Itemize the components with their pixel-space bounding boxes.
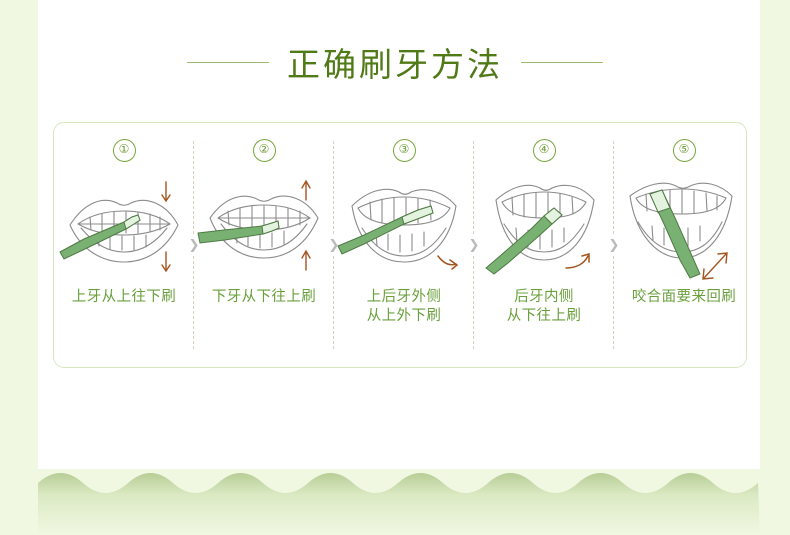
step-1-figure xyxy=(54,170,194,282)
bottom-wave-band xyxy=(38,463,760,535)
arrow-down-bottom xyxy=(162,252,170,271)
step-4-figure xyxy=(474,170,614,282)
steps-card: ① xyxy=(53,122,747,368)
step-1-number: ① xyxy=(113,139,136,162)
curved-arrow-up xyxy=(566,254,589,268)
step-3: ❯ ③ xyxy=(334,123,474,367)
step-2: ❯ ② xyxy=(194,123,334,367)
step-2-caption: 下牙从下往上刷 xyxy=(212,288,316,307)
step-4-number: ④ xyxy=(533,139,556,162)
toothbrush xyxy=(650,190,700,278)
step-4-caption: 后牙内侧 从下往上刷 xyxy=(507,288,582,326)
title-rule-right xyxy=(521,62,603,63)
title-rule-left xyxy=(187,62,269,63)
toothbrush xyxy=(198,221,279,243)
step-3-caption: 上后牙外侧 从上外下刷 xyxy=(367,288,442,326)
arrow-up-top xyxy=(302,181,310,200)
arrow-down-top xyxy=(162,182,170,201)
step-2-figure xyxy=(194,170,334,282)
step-5-number: ⑤ xyxy=(673,139,696,162)
step-3-figure xyxy=(334,170,474,282)
arrow-up-bottom xyxy=(302,251,310,270)
step-3-number: ③ xyxy=(393,139,416,162)
step-1: ① xyxy=(54,123,194,367)
title-row: 正确刷牙方法 xyxy=(0,38,790,86)
step-2-number: ② xyxy=(253,139,276,162)
toothbrush xyxy=(338,206,433,254)
step-5: ❯ ⑤ xyxy=(614,123,754,367)
step-1-caption: 上牙从上往下刷 xyxy=(72,288,176,307)
page-root: 正确刷牙方法 ① xyxy=(0,0,790,535)
toothbrush xyxy=(486,208,562,274)
step-4: ❯ ④ xyxy=(474,123,614,367)
double-headed-arrow xyxy=(703,253,727,279)
step-5-figure xyxy=(614,170,754,282)
page-title: 正确刷牙方法 xyxy=(287,38,503,86)
step-5-caption: 咬合面要来回刷 xyxy=(632,288,736,307)
curved-arrow-down xyxy=(438,256,457,269)
